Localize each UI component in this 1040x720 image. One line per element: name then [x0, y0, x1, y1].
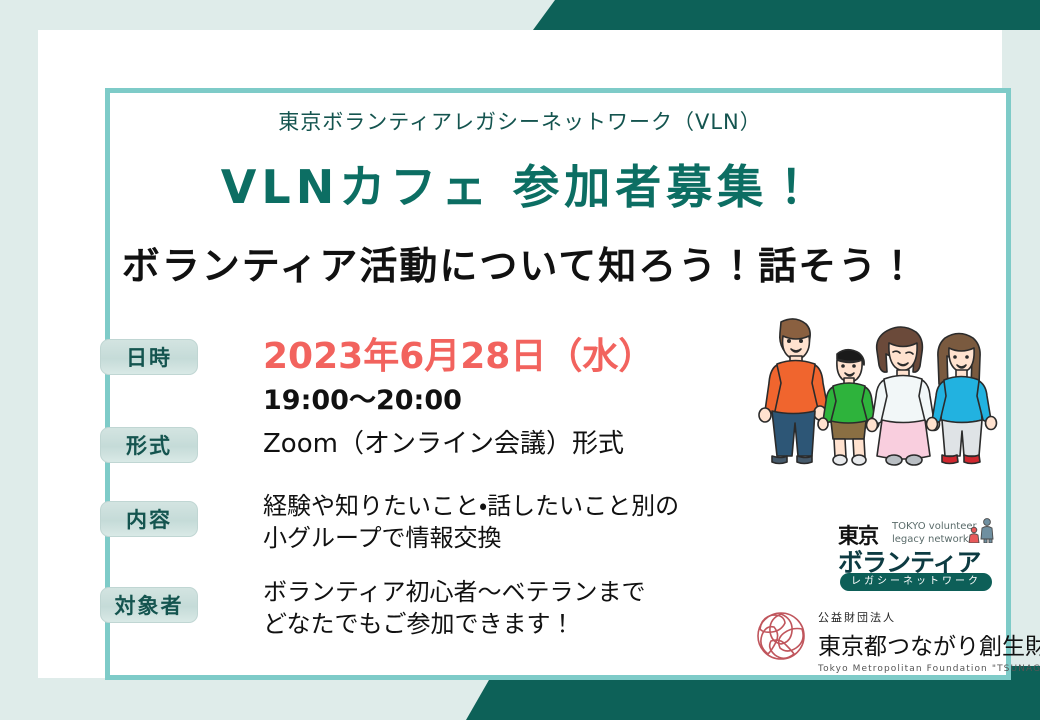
- label-target: 対象者: [100, 587, 198, 623]
- label-format: 形式: [100, 427, 198, 463]
- value-time: 19:00〜20:00: [263, 378, 462, 417]
- label-datetime: 日時: [100, 339, 198, 375]
- foundation-logo-line2: 東京都つながり創生財団: [818, 627, 1040, 661]
- organization-name: 東京ボランティアレガシーネットワーク（VLN）: [38, 106, 1002, 136]
- foundation-logo: 公益財団法人 東京都つながり創生財団 Tokyo Metropolitan Fo…: [750, 606, 1000, 668]
- poster-card: 東京ボランティアレガシーネットワーク（VLN） VLNカフェ 参加者募集！ ボラ…: [38, 30, 1002, 678]
- foundation-logo-text: 公益財団法人 東京都つながり創生財団 Tokyo Metropolitan Fo…: [818, 609, 1040, 674]
- value-date: 2023年6月28日（水）: [263, 327, 654, 379]
- figure-mother: [867, 327, 940, 465]
- decor-diagonal-top: [0, 0, 1040, 30]
- vln-logo-english-line1: TOKYO volunteer: [892, 521, 977, 532]
- value-target: ボランティア初心者〜ベテランまで どなたでもご参加できます！: [263, 577, 646, 641]
- figure-girl: [927, 334, 997, 464]
- value-target-line1: ボランティア初心者〜ベテランまで: [263, 577, 646, 609]
- poster-canvas: 東京ボランティアレガシーネットワーク（VLN） VLNカフェ 参加者募集！ ボラ…: [0, 0, 1040, 720]
- value-content: 経験や知りたいこと・話したいこと別の 小グループで情報交換: [263, 491, 679, 555]
- figure-boy: [818, 350, 879, 465]
- tsunagari-flower-icon: [750, 606, 812, 666]
- foundation-logo-line3: Tokyo Metropolitan Foundation "TSUNAGARI…: [818, 664, 1040, 674]
- vln-logo: 東京 TOKYO volunteer legacy network ボランティア…: [838, 520, 998, 592]
- value-content-line1: 経験や知りたいこと・話したいこと別の: [263, 491, 679, 523]
- family-illustration-icon: [753, 308, 998, 473]
- figure-father: [759, 319, 828, 464]
- page-title: VLNカフェ 参加者募集！: [38, 151, 1002, 217]
- vln-logo-people-icon: [966, 517, 996, 543]
- vln-logo-badge: レガシーネットワーク: [840, 573, 992, 591]
- page-subtitle: ボランティア活動について知ろう！話そう！: [38, 235, 1002, 290]
- value-target-line2: どなたでもご参加できます！: [263, 609, 646, 641]
- label-content: 内容: [100, 501, 198, 537]
- value-format: Zoom（オンライン会議）形式: [263, 423, 624, 460]
- value-content-line2: 小グループで情報交換: [263, 523, 679, 555]
- foundation-logo-line1: 公益財団法人: [818, 609, 1040, 625]
